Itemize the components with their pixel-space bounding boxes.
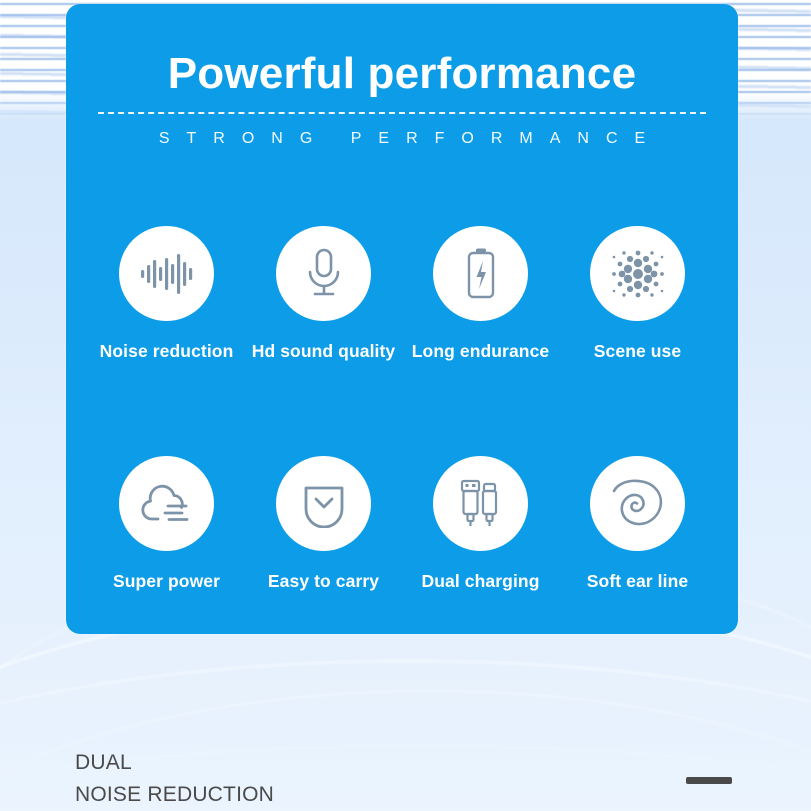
product-feature-banner: Powerful performance STRONG PERFORMANCE (0, 0, 811, 811)
feature-item-noise-reduction: Noise reduction (88, 226, 245, 362)
sound-wave-icon (139, 249, 195, 299)
feature-label: Soft ear line (587, 571, 688, 592)
feature-grid: Noise reduction (88, 226, 716, 592)
usb-connectors-icon (456, 477, 506, 531)
feature-item-super-power: Super power (88, 456, 245, 592)
feature-icon-badge (590, 456, 685, 551)
feature-icon-badge (433, 456, 528, 551)
feature-icon-badge (276, 226, 371, 321)
pocket-chevron-down-icon (300, 480, 348, 528)
feature-icon-badge (590, 226, 685, 321)
feature-label: Hd sound quality (252, 341, 396, 362)
footer-dash-mark (686, 777, 732, 784)
feature-item-scene-use: Scene use (559, 226, 716, 362)
footer-caption-line2: NOISE REDUCTION (75, 779, 274, 811)
page-subtitle: STRONG PERFORMANCE (66, 130, 738, 148)
spiral-icon (610, 478, 666, 530)
cloud-wind-icon (138, 481, 196, 527)
feature-icon-badge (119, 226, 214, 321)
feature-card: Powerful performance STRONG PERFORMANCE (66, 4, 738, 634)
feature-item-soft-ear-line: Soft ear line (559, 456, 716, 592)
feature-label: Super power (113, 571, 220, 592)
feature-label: Scene use (594, 341, 681, 362)
title-divider (98, 112, 706, 114)
feature-label: Dual charging (422, 571, 540, 592)
microphone-icon (302, 247, 346, 301)
feature-label: Long endurance (412, 341, 550, 362)
feature-item-long-endurance: Long endurance (402, 226, 559, 362)
footer-caption-line1: DUAL (75, 751, 132, 774)
feature-label: Noise reduction (100, 341, 234, 362)
feature-item-hd-sound-quality: Hd sound quality (245, 226, 402, 362)
dot-burst-icon (609, 245, 667, 303)
feature-item-easy-to-carry: Easy to carry (245, 456, 402, 592)
feature-label: Easy to carry (268, 571, 379, 592)
feature-icon-badge (119, 456, 214, 551)
battery-bolt-icon (462, 246, 500, 302)
feature-item-dual-charging: Dual charging (402, 456, 559, 592)
page-title: Powerful performance (66, 52, 738, 96)
footer-caption: DUAL NOISE REDUCTION (75, 747, 274, 811)
feature-icon-badge (276, 456, 371, 551)
feature-icon-badge (433, 226, 528, 321)
